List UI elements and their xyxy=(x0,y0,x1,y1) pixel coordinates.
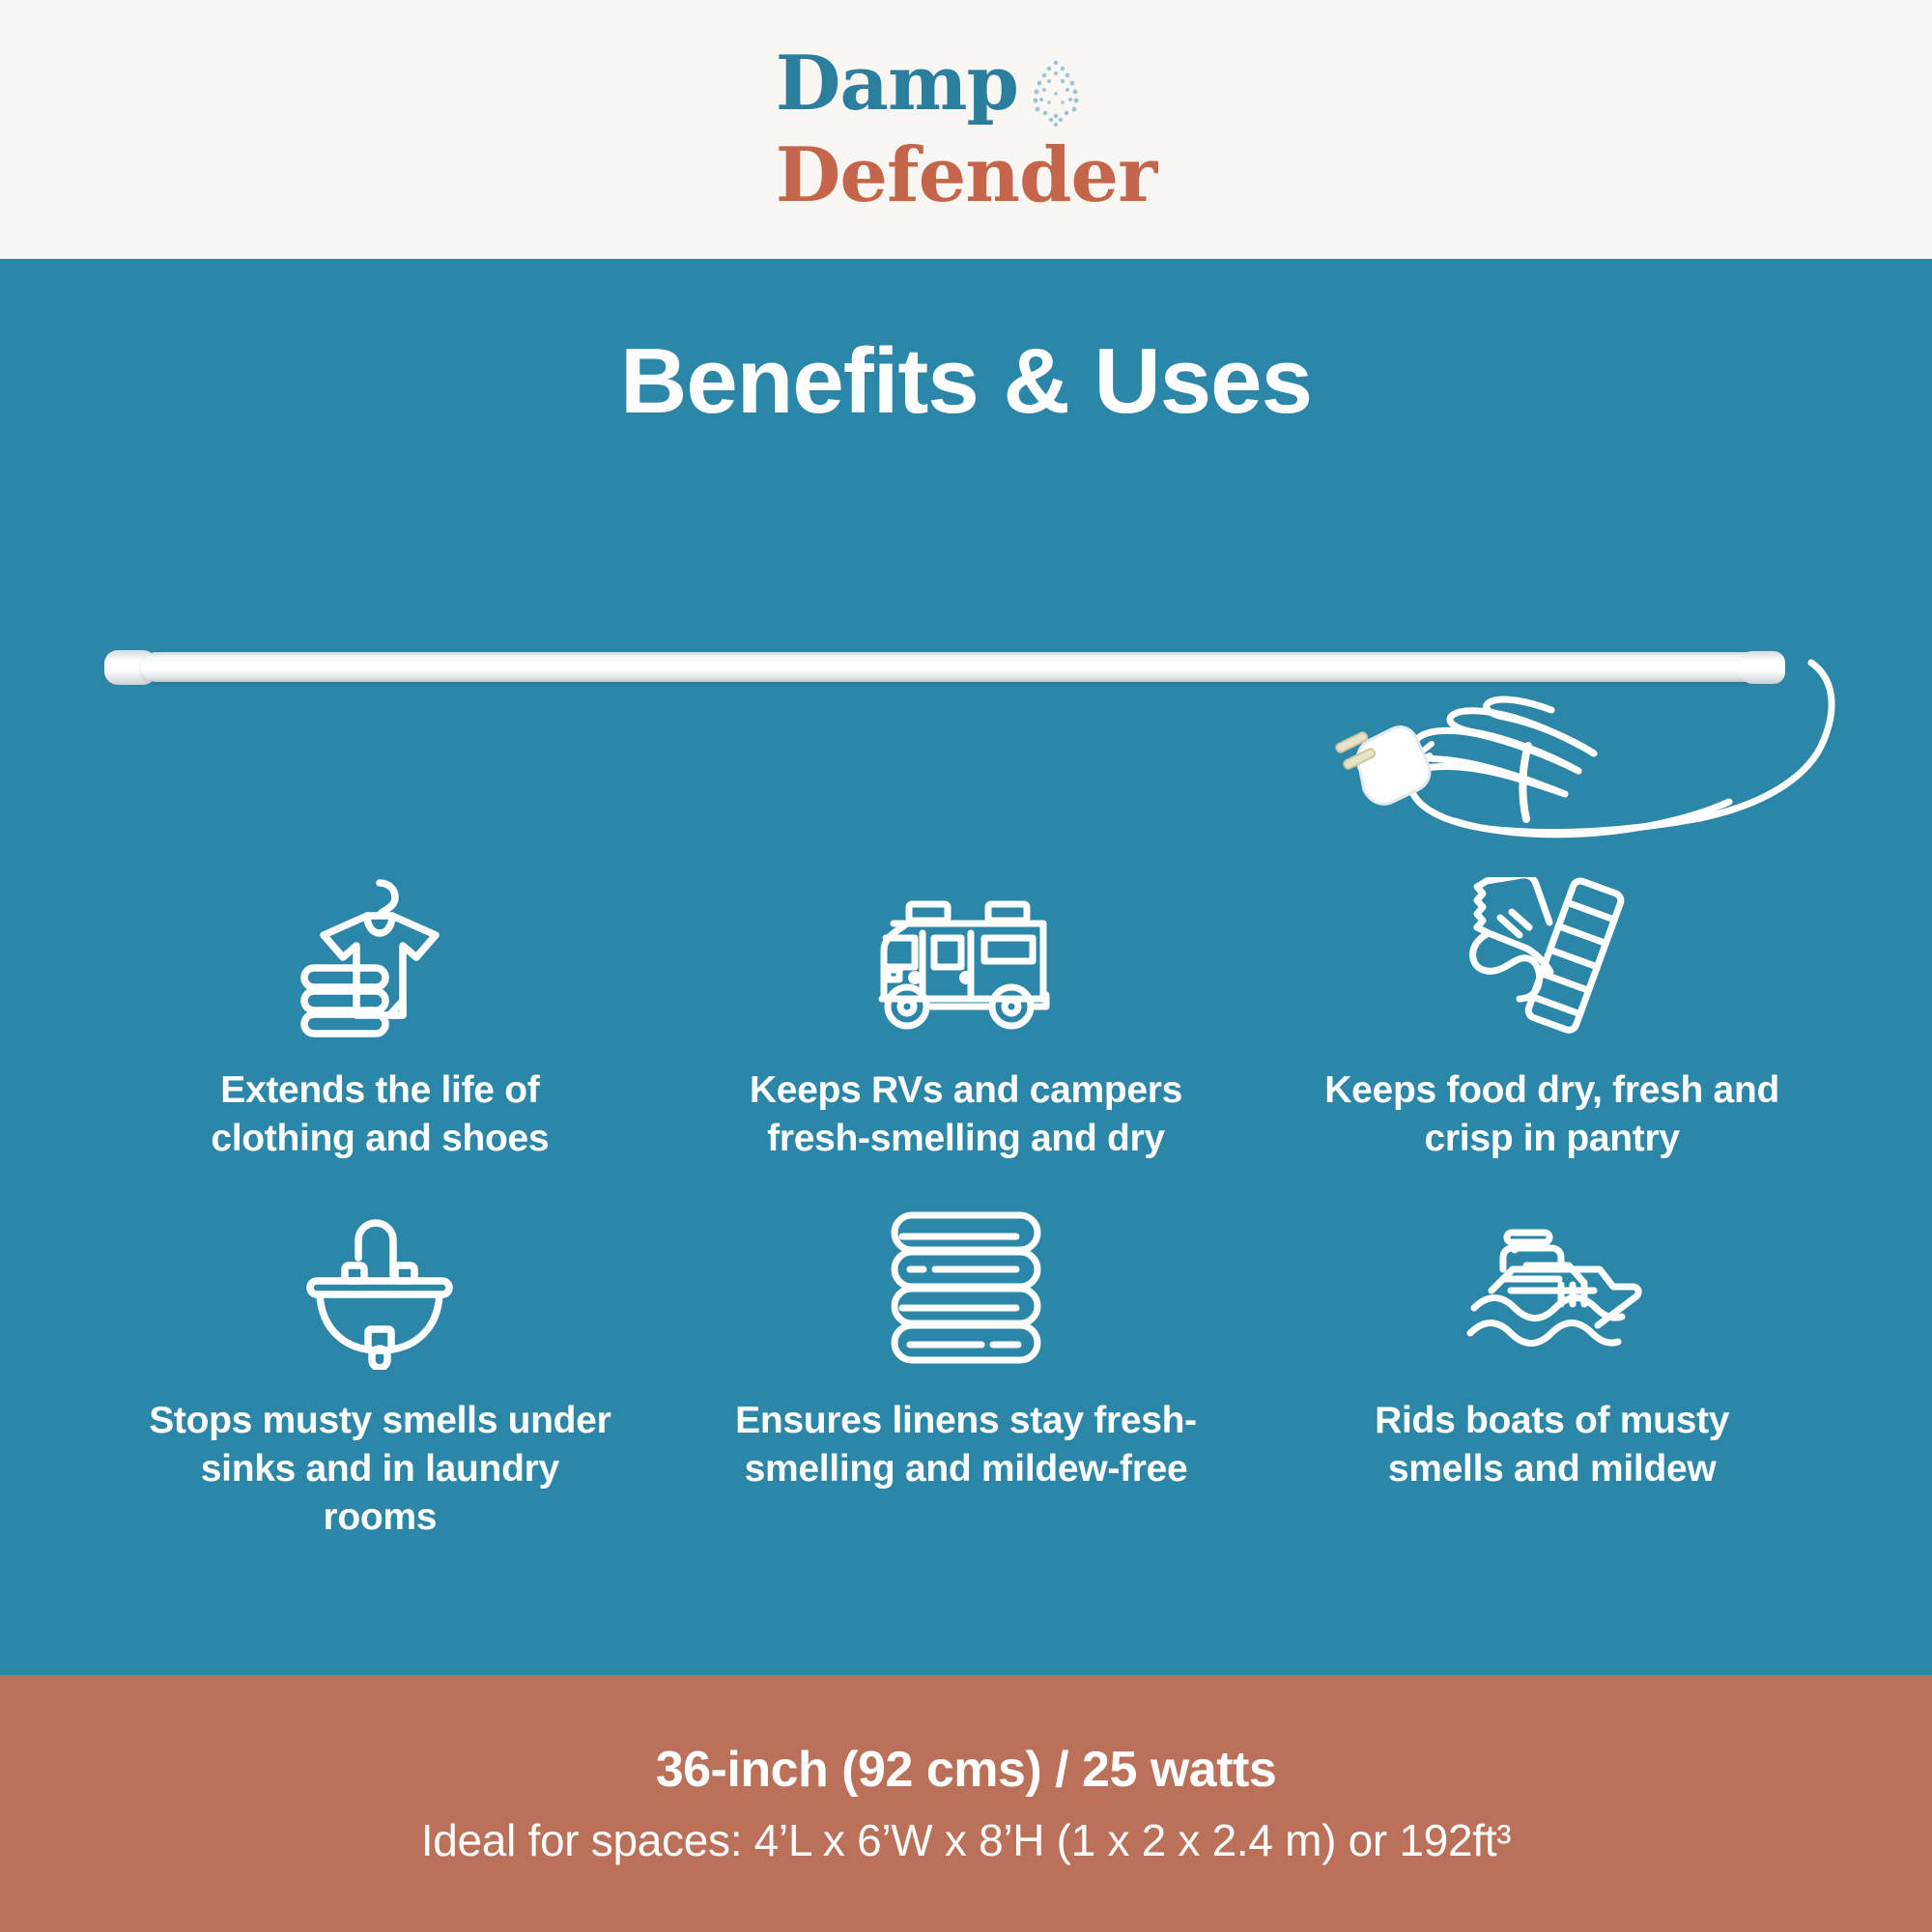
folded-linens-stack-icon xyxy=(881,1206,1051,1370)
benefit-caption: Keeps food dry, fresh and crisp in pantr… xyxy=(1321,1066,1784,1163)
brand-word-defender: Defender xyxy=(776,143,1156,208)
benefit-item: Rids boats of musty smells and mildew xyxy=(1259,1206,1845,1542)
benefit-item: Keeps food dry, fresh and crisp in pantr… xyxy=(1259,875,1845,1163)
power-cord-and-plug xyxy=(1246,657,1864,869)
water-droplet-dotted-icon xyxy=(1028,57,1084,139)
infographic-page: Damp xyxy=(0,0,1932,1932)
product-image xyxy=(0,452,1932,867)
benefit-caption: Keeps RVs and campers fresh-smelling and… xyxy=(734,1066,1198,1163)
brand-word-damp: Damp xyxy=(776,51,1018,116)
benefit-item: Stops musty smells under sinks and in la… xyxy=(87,1206,673,1542)
benefit-item: Keeps RVs and campers fresh-smelling and… xyxy=(673,875,1260,1163)
rv-camper-icon xyxy=(865,875,1067,1039)
benefit-item: Extends the life of clothing and shoes xyxy=(87,875,673,1163)
header-bar: Damp xyxy=(0,0,1932,259)
food-snack-packets-icon xyxy=(1465,875,1639,1039)
spec-ideal-space: Ideal for spaces: 4’L x 6’W x 8’H (1 x 2… xyxy=(421,1814,1511,1866)
sink-faucet-icon xyxy=(295,1206,465,1370)
spec-size-watts: 36-inch (92 cms) / 25 watts xyxy=(656,1741,1277,1799)
main-section: Benefits & Uses xyxy=(0,259,1932,1675)
benefit-caption: Rids boats of musty smells and mildew xyxy=(1321,1397,1784,1493)
brand-logo: Damp xyxy=(776,51,1156,208)
tshirt-hanger-folded-clothes-icon xyxy=(295,875,465,1039)
plug-body xyxy=(1335,727,1430,805)
benefit-item: Ensures linens stay fresh-smelling and m… xyxy=(673,1206,1260,1542)
boat-yacht-waves-icon xyxy=(1461,1206,1644,1370)
benefit-caption: Extends the life of clothing and shoes xyxy=(148,1066,611,1163)
benefits-grid: Extends the life of clothing and shoes xyxy=(0,867,1932,1542)
footer-spec-bar: 36-inch (92 cms) / 25 watts Ideal for sp… xyxy=(0,1675,1932,1932)
brand-logo-top-row: Damp xyxy=(776,51,1084,139)
benefit-caption: Stops musty smells under sinks and in la… xyxy=(148,1397,611,1542)
page-title: Benefits & Uses xyxy=(0,328,1932,435)
benefit-caption: Ensures linens stay fresh-smelling and m… xyxy=(734,1397,1198,1493)
